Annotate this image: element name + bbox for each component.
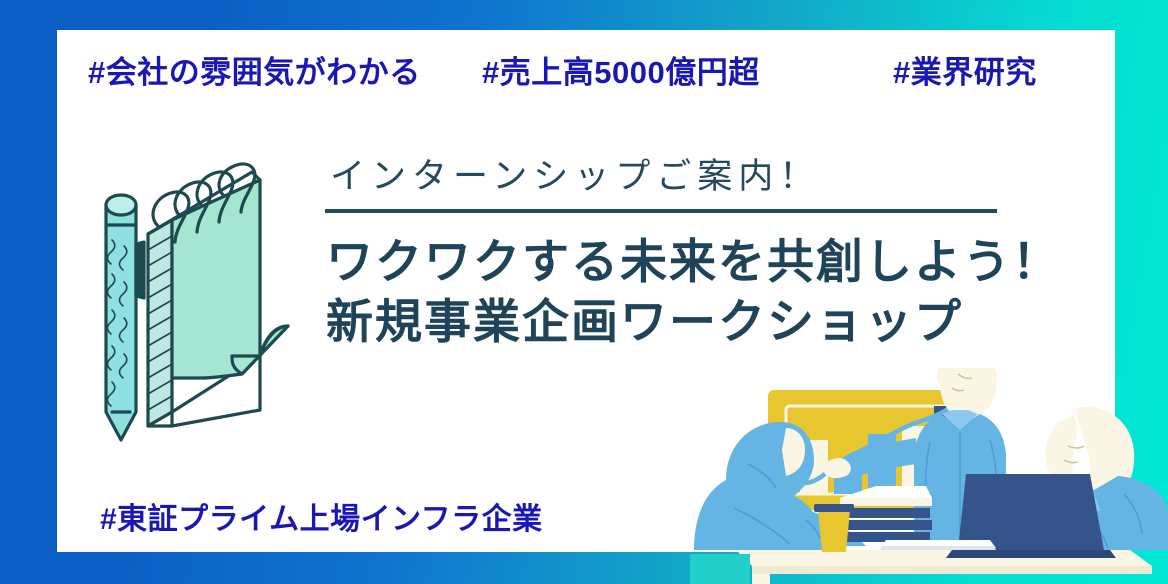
notebook-spine-icon: [148, 220, 172, 426]
hashtag-listed-infrastructure-company[interactable]: #東証プライム上場インフラ企業: [100, 494, 543, 538]
internship-banner: #会社の雰囲気がわかる #売上高5000億円超 #業界研究 #東証プライム上場イ…: [0, 0, 1168, 584]
eyebrow-text: インターンシップご案内！: [330, 148, 820, 199]
headline-line-2: 新規事業企画ワークショップ: [326, 292, 1061, 352]
meeting-scene-illustration: [690, 368, 1168, 584]
headline-divider: [325, 209, 997, 213]
hashtag-company-atmosphere[interactable]: #会社の雰囲気がわかる: [88, 47, 421, 92]
headline-line-1: ワクワクする未来を共創しよう！: [326, 232, 1061, 292]
pencil-icon: [106, 195, 144, 440]
stack-of-books-icon: [840, 486, 932, 542]
headline-block: ワクワクする未来を共創しよう！ 新規事業企画ワークショップ: [326, 232, 1061, 352]
notepad-illustration: [92, 150, 312, 470]
keyboard-icon: [880, 540, 996, 550]
hashtag-industry-research[interactable]: #業界研究: [893, 47, 1037, 92]
hashtag-revenue[interactable]: #売上高5000億円超: [482, 47, 760, 92]
